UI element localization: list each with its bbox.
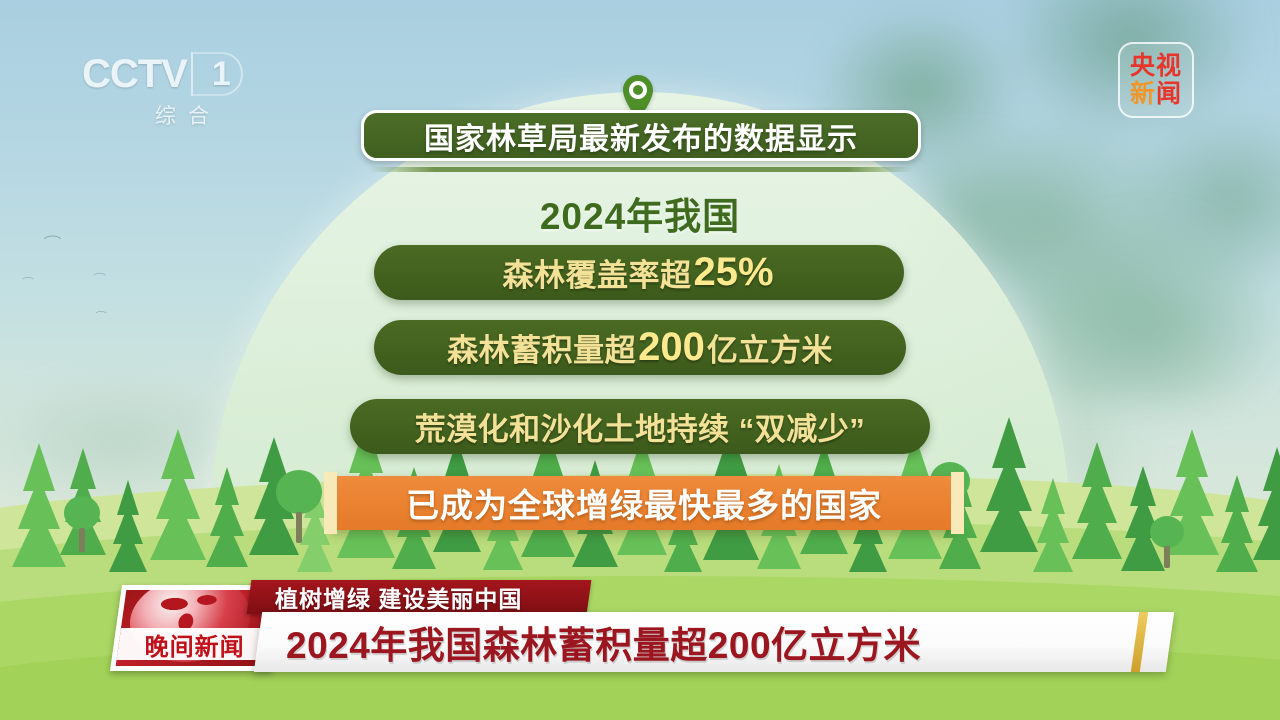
news-badge-wen: 闻 [1156,80,1182,108]
tree-icon [1252,444,1280,554]
tree-icon [205,464,248,560]
tree-icon [980,414,1038,544]
cctv-news-badge: 央视 新闻 [1118,42,1194,118]
fact-banner-4: 已成为全球增绿最快最多的国家 [332,476,956,530]
tree-icon [1120,463,1165,564]
headline-banner: 2024年我国森林蓄积量超200亿立方米 [254,612,1174,672]
tree-icon [1032,475,1073,566]
cctv-channel-logo: CCTV 1 综合 [82,52,282,134]
bird-icon: ⌒ [22,278,33,286]
broadcast-screen: ⌒ ⌒ ⌒ ⌒ CCTV 1 综合 央视 新闻 国家林草局最新发布的数据显示 [0,0,1280,720]
bird-icon: ⌒ [95,312,106,320]
headline-gold-accent [1130,612,1149,672]
tree-icon [108,477,148,566]
cctv-channel-sub: 综合 [82,100,282,130]
topic-text: 植树增绿 建设美丽中国 [275,580,522,614]
fact-2-suffix: 亿立方米 [707,325,833,370]
tree-icon [1072,439,1123,552]
fact-3-text: 荒漠化和沙化土地持续 “双减少” [415,404,866,449]
topic-banner: 植树增绿 建设美丽中国 [247,580,592,614]
headline-text: 2024年我国森林蓄积量超200亿立方米 [286,615,921,669]
year-line-text: 2024年我国 [540,196,740,237]
fact-2-text: 森林蓄积量超 [447,325,636,370]
bush-trunk [79,528,85,552]
news-badge-line2: 新闻 [1130,81,1182,108]
program-logo-label: 晚间新闻 [117,628,273,660]
bush-icon [276,470,322,514]
fact-1-text: 森林覆盖率超 [502,250,691,295]
tree-icon [150,426,207,552]
cctv-letters: CCTV [82,52,187,96]
infographic-header-banner: 国家林草局最新发布的数据显示 [361,110,921,161]
bush-trunk [1164,546,1170,568]
bush-icon [64,496,100,530]
bird-icon: ⌒ [93,274,106,283]
fact-2-number: 200 [636,325,707,370]
news-badge-xin: 新 [1130,80,1156,108]
bush-trunk [296,512,302,543]
cctv-channel-number: 1 [191,52,243,96]
infographic-header-text: 国家林草局最新发布的数据显示 [424,114,858,158]
news-badge-line1: 央视 [1130,53,1182,80]
fact-pill-2: 森林蓄积量超200亿立方米 [374,320,906,375]
cctv-wordmark: CCTV 1 [82,52,282,96]
lower-third: 晚间新闻 植树增绿 建设美丽中国 2024年我国森林蓄积量超200亿立方米 [0,568,1280,688]
header-underline [369,167,913,172]
banner-cap-right [951,472,964,534]
fact-1-number: 25% [691,250,775,295]
tree-icon [12,440,66,560]
fact-4-text: 已成为全球增绿最快最多的国家 [406,479,882,527]
bush-icon [1150,516,1184,548]
program-logo-text: 晚间新闻 [145,627,245,662]
fact-pill-1: 森林覆盖率超 25% [374,245,904,300]
year-line: 2024年我国 [0,186,1280,240]
banner-cap-left [324,472,337,534]
fact-pill-3: 荒漠化和沙化土地持续 “双减少” [350,399,930,454]
